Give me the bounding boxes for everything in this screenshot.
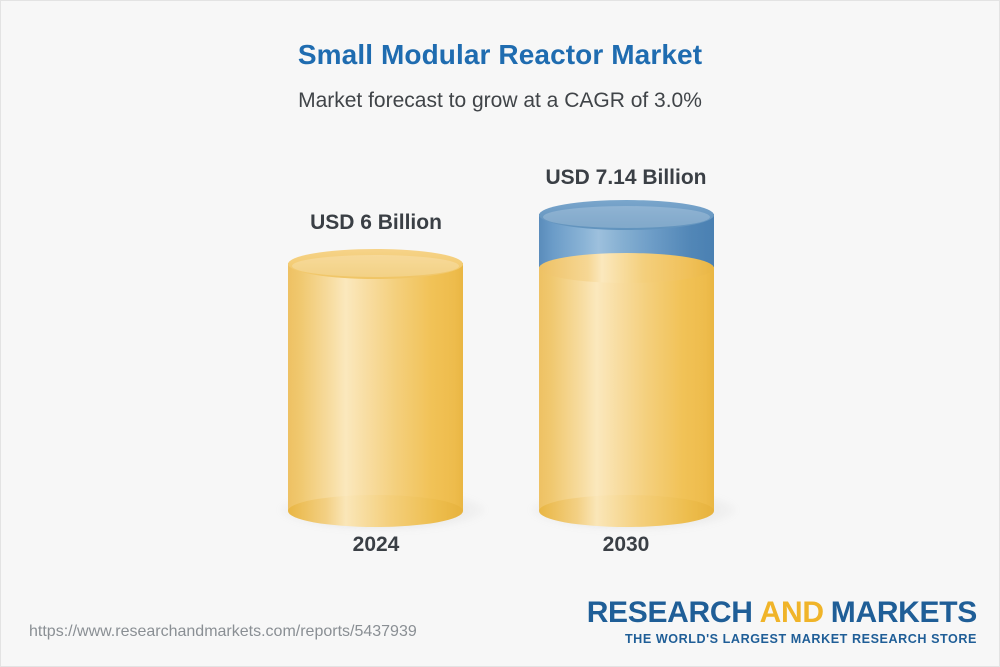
value-label-2030: USD 7.14 Billion	[461, 166, 791, 190]
bar-body-base-2030	[539, 263, 714, 511]
brand-word-and: AND	[760, 596, 824, 629]
category-label-2024: 2024	[256, 533, 496, 557]
chart-subtitle: Market forecast to grow at a CAGR of 3.0…	[1, 89, 999, 113]
brand-logo: RESEARCHANDMARKETS THE WORLD'S LARGEST M…	[587, 598, 977, 646]
brand-word-research: RESEARCH	[587, 596, 753, 629]
report-url[interactable]: https://www.researchandmarkets.com/repor…	[29, 623, 417, 641]
bar-bottom-ellipse-2024	[288, 495, 463, 527]
bar-top-rim-2024	[292, 255, 459, 277]
chart-canvas: Small Modular Reactor Market Market fore…	[0, 0, 1000, 667]
bar-top-rim-2030	[543, 206, 710, 228]
value-label-2024: USD 6 Billion	[211, 211, 541, 235]
bar-segment-divider-2030	[539, 253, 714, 283]
brand-logo-wordmark: RESEARCHANDMARKETS	[587, 598, 977, 628]
brand-word-markets: MARKETS	[831, 596, 977, 629]
bar-body-2024	[288, 263, 463, 511]
brand-tagline: THE WORLD'S LARGEST MARKET RESEARCH STOR…	[587, 633, 977, 646]
bar-bottom-ellipse-2030	[539, 495, 714, 527]
category-label-2030: 2030	[506, 533, 746, 557]
chart-title: Small Modular Reactor Market	[1, 39, 999, 71]
